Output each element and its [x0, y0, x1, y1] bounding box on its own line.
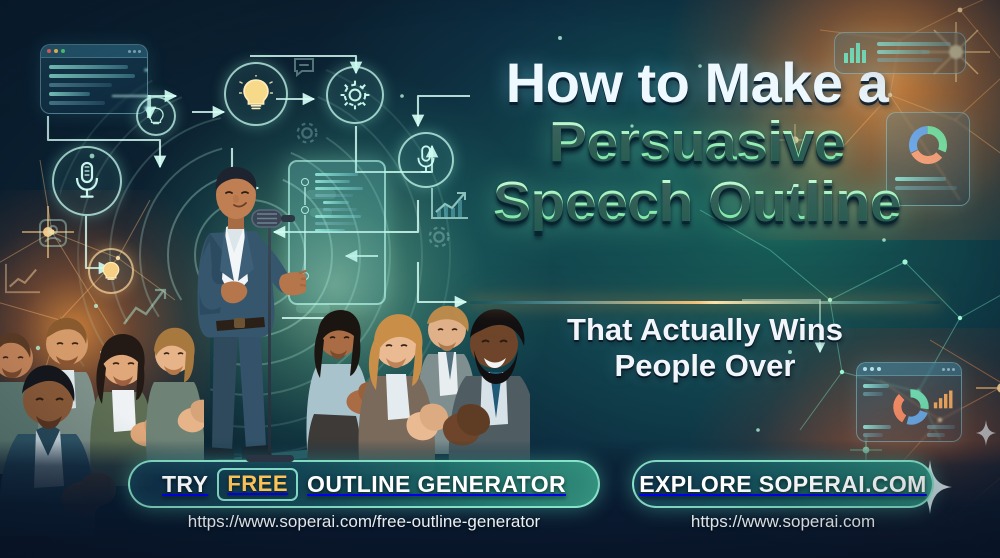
microphone-stand-base	[246, 455, 294, 462]
vignette-overlay	[0, 0, 1000, 558]
promo-banner: How to Make a Persuasive Speech Outline …	[0, 0, 1000, 558]
microphone-stand	[268, 212, 271, 462]
microphone-icon	[248, 204, 302, 234]
